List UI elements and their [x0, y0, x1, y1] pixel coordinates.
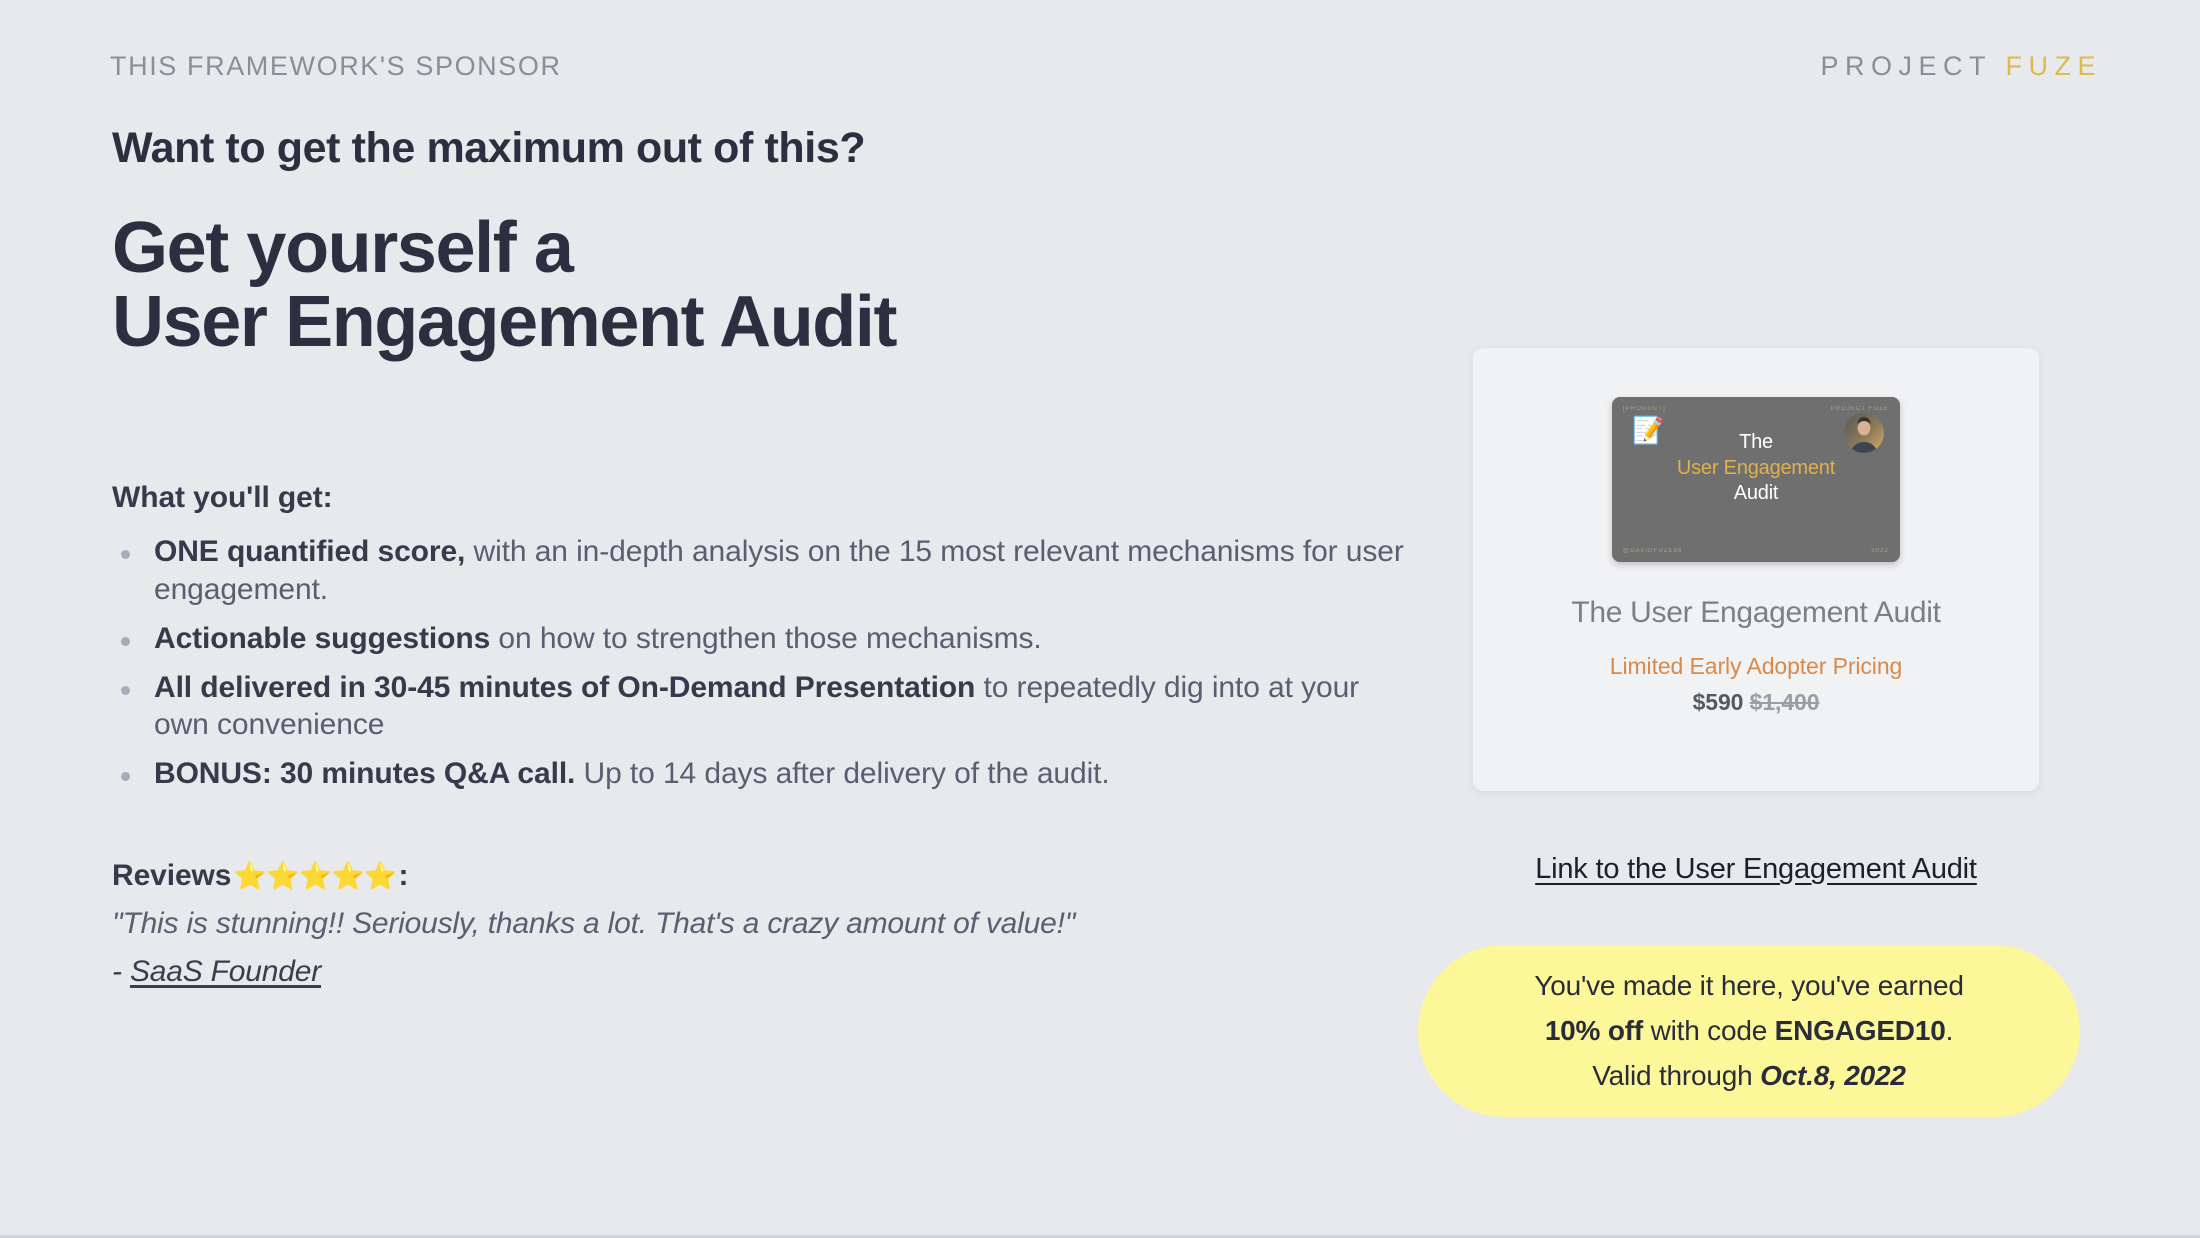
star-rating-icon: ⭐⭐⭐⭐⭐	[233, 860, 396, 892]
list-item: All delivered in 30-45 minutes of On-Dem…	[112, 669, 1412, 745]
product-promo-label: Limited Early Adopter Pricing	[1473, 653, 2039, 680]
coupon-expiry-date: Oct.8, 2022	[1760, 1060, 1906, 1091]
list-item: ONE quantified score, with an in-depth a…	[112, 533, 1412, 609]
brand-word-project: PROJECT	[1820, 51, 1991, 81]
reviews-heading: Reviews ⭐⭐⭐⭐⭐ :	[112, 859, 1412, 893]
thumbnail-corner-bottom-right: 2022	[1871, 548, 1889, 554]
bullet-dot-icon	[121, 550, 130, 559]
sponsor-eyebrow: THIS FRAMEWORK'S SPONSOR	[110, 51, 562, 82]
thumbnail-corner-bottom-left: @DAVIDFUZE96	[1623, 548, 1683, 554]
audit-link[interactable]: Link to the User Engagement Audit	[1473, 853, 2039, 886]
coupon-line-1: You've made it here, you've earned	[1534, 970, 1963, 1002]
coupon-line-2: 10% off with code ENGAGED10.	[1545, 1015, 1953, 1047]
benefit-bold: ONE quantified score,	[154, 535, 465, 568]
list-item: Actionable suggestions on how to strengt…	[112, 620, 1412, 658]
price-original: $1,400	[1750, 689, 1820, 715]
benefit-bold: BONUS: 30 minutes Q&A call.	[154, 757, 575, 790]
bullet-dot-icon	[121, 686, 130, 695]
bullet-dot-icon	[121, 772, 130, 781]
coupon-mid-text: with code	[1643, 1015, 1775, 1046]
headline-line-1: Get yourself a	[112, 212, 1412, 285]
thumbnail-title: The User Engagement Audit	[1612, 430, 1900, 507]
product-name: The User Engagement Audit	[1509, 595, 2003, 632]
thumbnail-title-line-2: User Engagement	[1612, 456, 1900, 482]
headline-line-2: User Engagement Audit	[112, 286, 1412, 359]
list-item: BONUS: 30 minutes Q&A call. Up to 14 day…	[112, 755, 1412, 793]
brand-word-fuze: FUZE	[2006, 51, 2103, 81]
attrib-dash: -	[112, 955, 130, 988]
attrib-name: SaaS Founder	[130, 955, 321, 988]
reviews-label: Reviews	[112, 859, 231, 893]
coupon-valid-prefix: Valid through	[1592, 1060, 1760, 1091]
kicker-text: Want to get the maximum out of this?	[112, 125, 1412, 172]
benefit-rest: Up to 14 days after delivery of the audi…	[575, 757, 1109, 790]
benefit-bold: Actionable suggestions	[154, 622, 490, 655]
brand-logo: PROJECT FUZE	[1820, 51, 2102, 82]
benefits-list: ONE quantified score, with an in-depth a…	[112, 533, 1412, 793]
product-card[interactable]: [PRODUCT] PROJECT FUZE @DAVIDFUZE96 2022…	[1473, 348, 2039, 791]
review-quote: "This is stunning!! Seriously, thanks a …	[112, 907, 1412, 941]
thumbnail-corner-top-left: [PRODUCT]	[1623, 406, 1666, 412]
product-thumbnail[interactable]: [PRODUCT] PROJECT FUZE @DAVIDFUZE96 2022…	[1612, 397, 1900, 562]
reviews-colon: :	[398, 859, 408, 893]
benefit-bold: All delivered in 30-45 minutes of On-Dem…	[154, 671, 975, 704]
benefit-rest: on how to strengthen those mechanisms.	[490, 622, 1041, 655]
price-current: $590	[1693, 689, 1744, 715]
coupon-period: .	[1946, 1015, 1954, 1046]
product-price: $590 $1,400	[1473, 689, 2039, 716]
page-title: Get yourself a User Engagement Audit	[112, 212, 1412, 359]
reviews-section: Reviews ⭐⭐⭐⭐⭐ : "This is stunning!! Seri…	[112, 859, 1412, 989]
thumbnail-title-line-1: The	[1612, 430, 1900, 456]
slide-root: THIS FRAMEWORK'S SPONSOR PROJECT FUZE Wa…	[0, 0, 2200, 1238]
left-content: Want to get the maximum out of this? Get…	[112, 125, 1412, 989]
thumbnail-corner-top-right: PROJECT FUZE	[1831, 406, 1889, 412]
coupon-code: ENGAGED10	[1775, 1015, 1946, 1046]
benefits-heading: What you'll get:	[112, 481, 1412, 515]
coupon-discount: 10% off	[1545, 1015, 1643, 1046]
coupon-line-3: Valid through Oct.8, 2022	[1592, 1060, 1906, 1092]
bullet-dot-icon	[121, 637, 130, 646]
header-bar: THIS FRAMEWORK'S SPONSOR PROJECT FUZE	[110, 48, 2102, 84]
coupon-banner[interactable]: You've made it here, you've earned 10% o…	[1418, 945, 2080, 1117]
review-attribution: - SaaS Founder	[112, 955, 1412, 989]
thumbnail-title-line-3: Audit	[1612, 481, 1900, 507]
